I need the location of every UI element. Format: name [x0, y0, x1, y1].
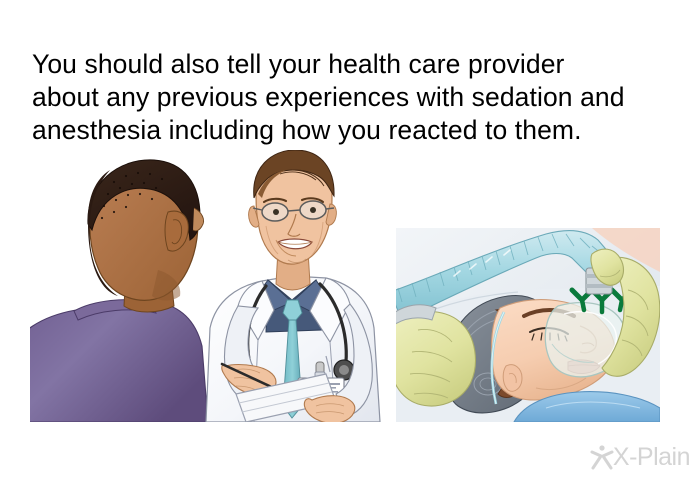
anesthesia-mask-illustration [396, 228, 660, 422]
headline-line-1: You should also tell your health care pr… [32, 48, 672, 81]
headline-line-2: about any previous experiences with seda… [32, 81, 672, 114]
headline-line-3: anesthesia including how you reacted to … [32, 114, 672, 147]
doctor-figure [206, 150, 380, 422]
page-title: You should also tell your health care pr… [32, 48, 672, 147]
x-plain-logo: X-Plain [589, 442, 690, 472]
x-plain-logo-text: X-Plain [613, 445, 690, 470]
illustration-area [0, 150, 700, 425]
doctor-consulting-patient-illustration [30, 150, 390, 422]
person-figure-x-icon [589, 444, 615, 470]
patient-figure [30, 160, 208, 422]
